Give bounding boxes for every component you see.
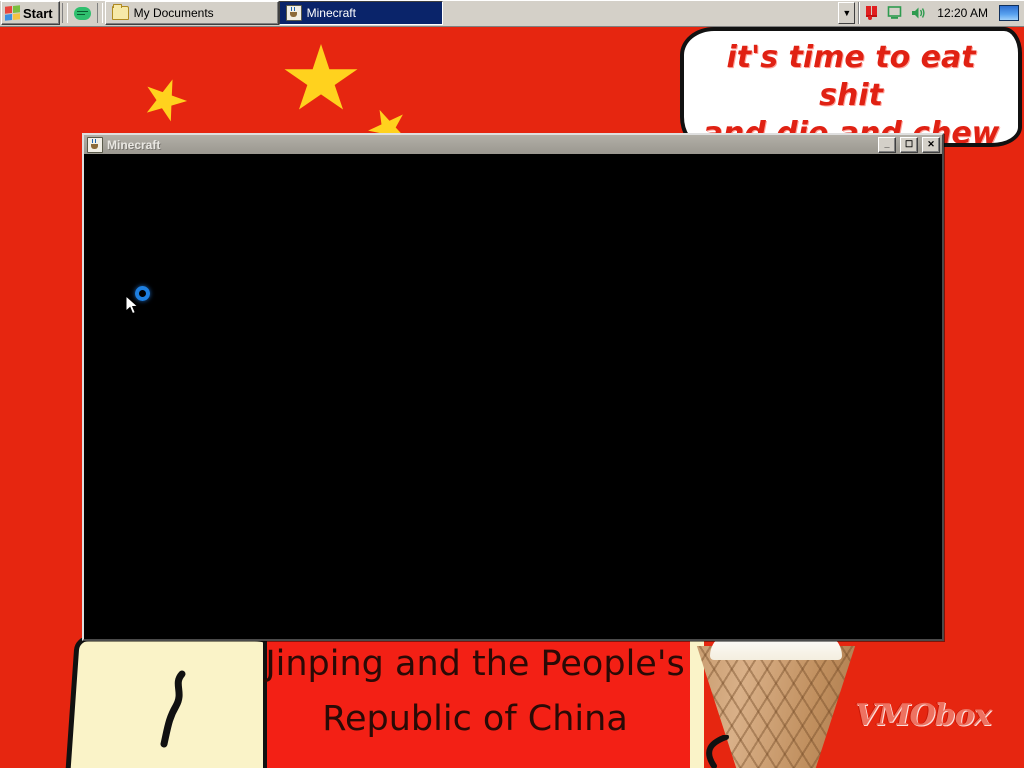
java-icon	[87, 137, 103, 153]
speech-bubble-text: it's time to eat shit and die and chew b…	[684, 31, 1018, 147]
cartoon-hook	[700, 735, 730, 768]
flag-star-small-1	[137, 72, 193, 128]
java-icon	[286, 5, 302, 21]
clock[interactable]: 12:20 AM	[933, 6, 992, 20]
windows-logo-icon	[5, 5, 20, 21]
display-icon[interactable]	[999, 5, 1019, 21]
wallpaper-banner-text: Jinping and the People's Republic of Chi…	[263, 632, 687, 768]
minecraft-game-canvas[interactable]	[84, 154, 942, 639]
taskbar-button-minecraft[interactable]: Minecraft	[279, 1, 443, 25]
notes-icon[interactable]	[74, 7, 91, 20]
minecraft-window[interactable]: Minecraft _ ☐ ✕	[82, 133, 944, 641]
maximize-button[interactable]: ☐	[900, 137, 918, 153]
window-title: Minecraft	[107, 138, 874, 152]
taskbar-button-label: My Documents	[134, 6, 214, 20]
flag-star-large	[283, 44, 359, 116]
wallpaper-watermark: VMObox	[855, 698, 991, 733]
speech-line-1: it's time to eat shit	[696, 39, 1006, 115]
taskbar-button-label: Minecraft	[307, 6, 356, 20]
system-tray: 12:20 AM	[858, 2, 1024, 24]
banner-line-2: Republic of China	[263, 692, 687, 747]
quick-launch-bar[interactable]	[70, 7, 95, 20]
minimize-button[interactable]: _	[878, 137, 896, 153]
flag-icon[interactable]	[864, 5, 880, 21]
start-button-label: Start	[23, 6, 53, 21]
taskbar-button-my-documents[interactable]: My Documents	[105, 1, 279, 25]
speech-bubble: it's time to eat shit and die and chew b…	[680, 27, 1022, 147]
cartoon-squiggle	[160, 670, 188, 748]
taskbar: Start My Documents Minecraft ▼	[0, 0, 1024, 27]
close-button[interactable]: ✕	[922, 137, 940, 153]
monitor-icon[interactable]	[887, 5, 903, 21]
taskbar-separator-1	[62, 3, 68, 23]
start-button[interactable]: Start	[1, 1, 60, 25]
banner-line-1: Jinping and the People's	[263, 637, 687, 692]
folder-icon	[112, 6, 129, 20]
taskbar-separator-2	[97, 3, 103, 23]
volume-icon[interactable]	[910, 5, 926, 21]
mouse-cursor-icon	[125, 295, 139, 315]
tray-expand-chevron-icon[interactable]: ▼	[838, 2, 855, 24]
screen: Jinping and the People's Republic of Chi…	[0, 0, 1024, 768]
window-titlebar[interactable]: Minecraft _ ☐ ✕	[84, 135, 942, 154]
